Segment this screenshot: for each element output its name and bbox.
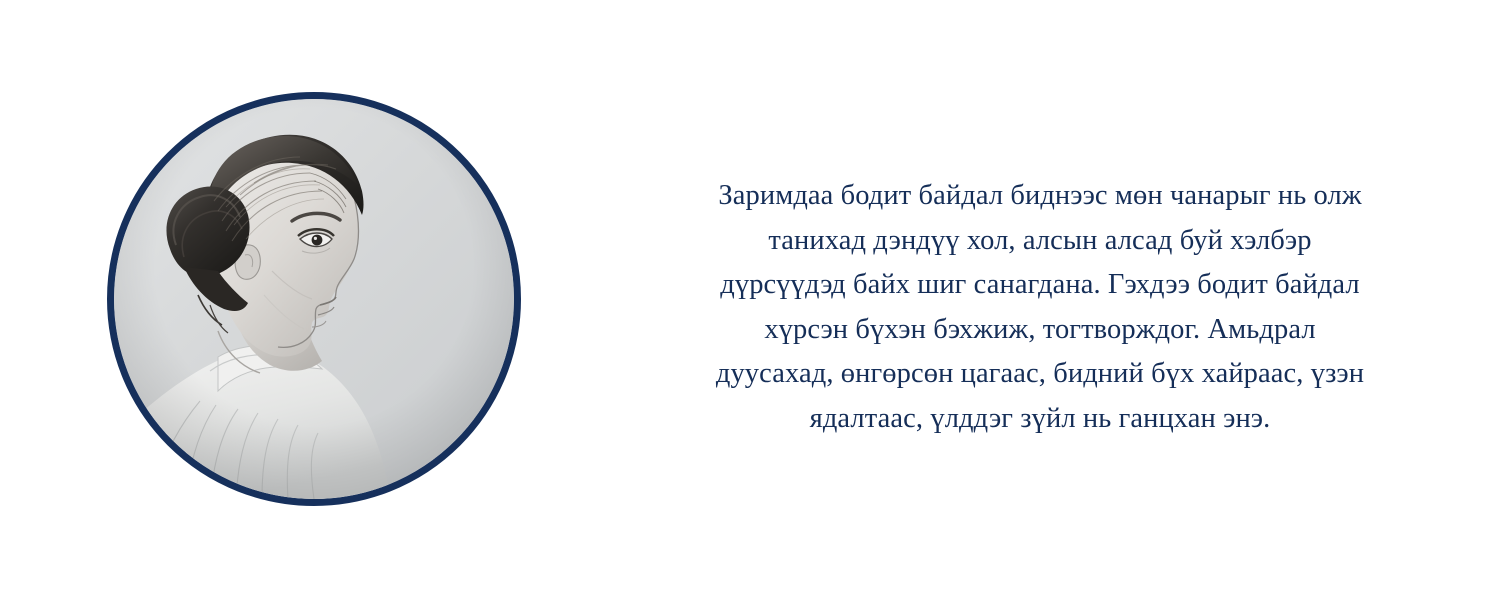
quote-line: хүрсэн бүхэн бэхжиж, тогтворждог. Амьдра… (654, 308, 1426, 353)
quote-card: Заримдаа бодит байдал биднээс мөн чанары… (0, 0, 1500, 614)
quote-line: ядалтаас, үлддэг зүйл нь ганцхан энэ. (654, 397, 1426, 442)
quote-line: дуусахад, өнгөрсөн цагаас, бидний бүх ха… (654, 352, 1426, 397)
quote-line: Заримдаа бодит байдал биднээс мөн чанары… (654, 174, 1426, 219)
portrait-photograph (114, 99, 514, 499)
portrait-circle-frame (107, 92, 521, 506)
quote-line: дүрсүүдэд байх шиг санагдана. Гэхдээ бод… (654, 263, 1426, 308)
quote-text: Заримдаа бодит байдал биднээс мөн чанары… (654, 174, 1426, 441)
portrait-container (107, 92, 521, 506)
quote-line: танихад дэндүү хол, алсын алсад буй хэлб… (654, 219, 1426, 264)
